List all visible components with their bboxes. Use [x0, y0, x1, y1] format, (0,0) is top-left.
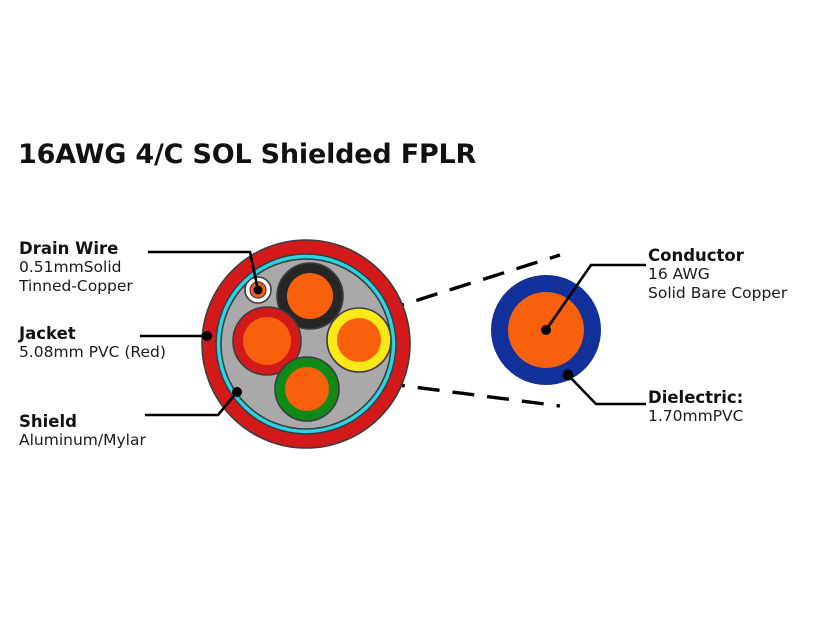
- shield-leader-dot: [232, 387, 242, 397]
- yellow-conductor: [327, 308, 391, 372]
- yellow-conductor-core: [337, 318, 381, 362]
- callout-conductor-line1: 16 AWG: [648, 265, 787, 283]
- callout-conductor: Conductor 16 AWG Solid Bare Copper: [648, 246, 787, 302]
- callout-conductor-title: Conductor: [648, 246, 787, 265]
- callout-drain-wire-line1: 0.51mmSolid: [19, 258, 133, 276]
- callout-drain-wire-title: Drain Wire: [19, 239, 133, 258]
- cable-diagram-svg: [0, 0, 840, 630]
- callout-drain-wire-line2: Tinned-Copper: [19, 277, 133, 295]
- drain-wire-leader-dot: [254, 286, 263, 295]
- red-conductor-core: [243, 317, 291, 365]
- callout-dielectric-title: Dielectric:: [648, 388, 743, 407]
- callout-shield: Shield Aluminum/Mylar: [19, 412, 146, 450]
- callout-jacket-line1: 5.08mm PVC (Red): [19, 343, 166, 361]
- callout-dielectric-line1: 1.70mmPVC: [648, 407, 743, 425]
- callout-jacket: Jacket 5.08mm PVC (Red): [19, 324, 166, 362]
- dielectric-leader-dot: [563, 370, 574, 381]
- callout-conductor-line2: Solid Bare Copper: [648, 284, 787, 302]
- green-conductor: [275, 357, 339, 421]
- dielectric-leader: [568, 375, 646, 404]
- callout-drain-wire: Drain Wire 0.51mmSolid Tinned-Copper: [19, 239, 133, 295]
- dashed-link-lower: [383, 383, 560, 406]
- diagram-canvas: 16AWG 4/C SOL Shielded FPLR: [0, 0, 840, 630]
- jacket-leader-dot: [202, 331, 212, 341]
- cable-cross-section: [202, 240, 410, 448]
- callout-shield-line1: Aluminum/Mylar: [19, 431, 146, 449]
- black-conductor-core: [287, 273, 333, 319]
- callout-jacket-title: Jacket: [19, 324, 166, 343]
- callout-shield-title: Shield: [19, 412, 146, 431]
- conductor-leader-dot: [541, 325, 551, 335]
- green-conductor-core: [285, 367, 329, 411]
- callout-dielectric: Dielectric: 1.70mmPVC: [648, 388, 743, 426]
